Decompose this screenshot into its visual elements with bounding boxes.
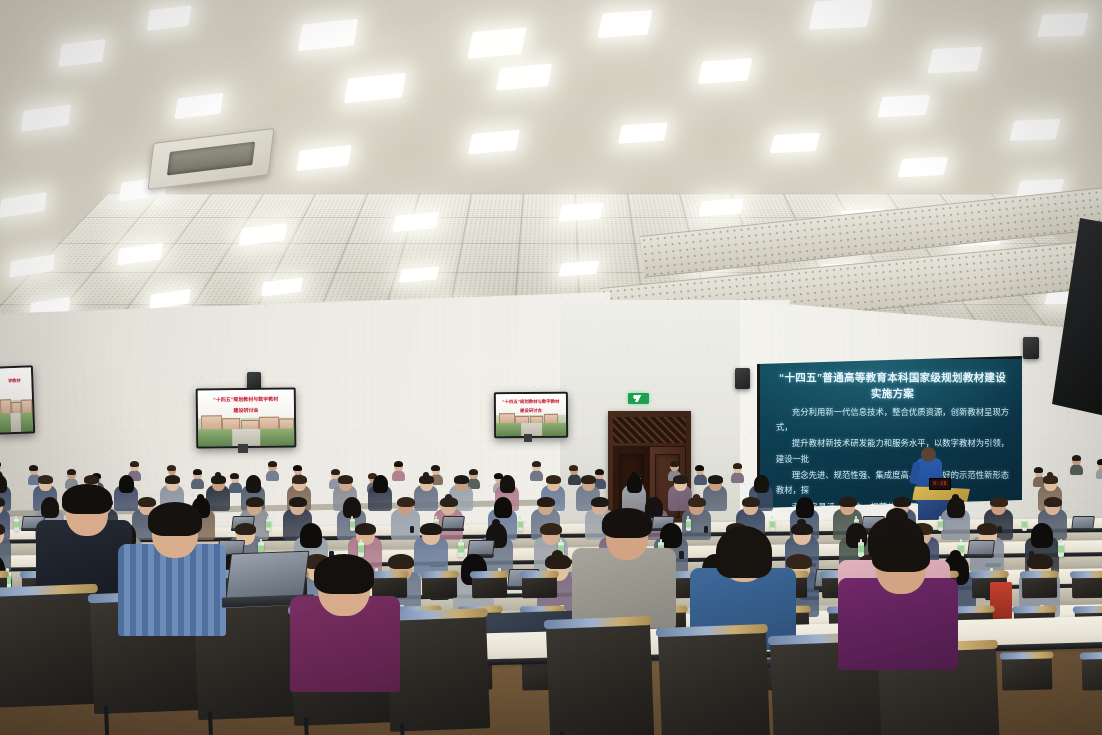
door-transom-grille [613, 417, 686, 443]
audience-torso [191, 478, 204, 489]
audience-hair [602, 508, 652, 538]
audience-hair [1031, 523, 1052, 548]
audience-hair [373, 475, 388, 493]
smartphone [998, 526, 1002, 533]
audience-hair-bun [631, 472, 637, 477]
audience-torso [694, 474, 707, 485]
audience-hair [230, 473, 239, 479]
wall-tv-center[interactable]: “十四五”规划教材与数字教材 建设研讨会 [494, 392, 568, 439]
audience-hair [708, 475, 723, 484]
audience-hair [673, 475, 688, 484]
recessed-led-panel [618, 122, 668, 144]
auditorium-chair [522, 572, 557, 597]
recessed-led-panel [898, 157, 948, 178]
audience-hair [165, 475, 180, 484]
chair-trim [1073, 605, 1102, 613]
auditorium-chair [0, 586, 100, 708]
audience-hair-bun [1047, 472, 1053, 477]
audience-hair-bun [423, 472, 429, 477]
audience-hair [331, 469, 340, 475]
water-bottle [686, 519, 691, 531]
audience-hair [591, 497, 609, 508]
laptop-base [967, 554, 994, 557]
auditorium-chair [422, 572, 457, 597]
auditorium-chair [1072, 572, 1102, 597]
ceiling-speaker-right [1023, 337, 1039, 359]
audience-hair [38, 475, 53, 484]
chair-trim [520, 570, 559, 578]
audience-hair [130, 461, 139, 467]
audience-hair [695, 465, 704, 471]
tv-center-mount [524, 434, 532, 442]
audience-torso [392, 470, 405, 481]
audience-hair [742, 497, 760, 508]
exit-sign [628, 393, 649, 404]
audience-hair [355, 523, 376, 536]
recessed-led-panel [496, 64, 552, 91]
slide-title-line2: 实施方案 [771, 386, 1015, 402]
audience-hair-bun [952, 494, 959, 500]
tv-center-banner-line1: “十四五”规划教材与数字教材 [499, 399, 563, 406]
audience-hair [581, 475, 596, 484]
chair-trim [0, 570, 9, 578]
water-bottle [266, 519, 271, 531]
audience-hair [733, 463, 742, 469]
audience-hair [300, 523, 321, 548]
audience-hair [193, 469, 202, 475]
audience-hair [293, 465, 302, 471]
audience-hair [786, 554, 812, 569]
audience-hair [716, 526, 772, 578]
audience-hair [494, 497, 512, 518]
recessed-led-panel [58, 39, 105, 67]
audience-hair [846, 523, 867, 548]
audience-hair [670, 461, 679, 467]
audience-torso [530, 470, 543, 481]
audience-hair [872, 534, 930, 572]
audience-hair [246, 497, 264, 508]
audience-hair [796, 497, 814, 518]
audience-hair-bun [797, 519, 806, 526]
audience-hair [246, 475, 261, 493]
audience-hair-bun [445, 494, 452, 500]
audience-hair [569, 465, 578, 471]
audience-hair-bun [693, 494, 700, 500]
recessed-led-panel [298, 19, 358, 51]
audience-torso [229, 482, 242, 493]
recessed-led-panel [878, 95, 931, 118]
audience-hair [431, 465, 440, 471]
water-bottle [14, 519, 19, 531]
wall-tv-left[interactable]: “十四五”规划教材与数字教材 建设研讨会 [196, 387, 297, 448]
recessed-led-panel [558, 202, 603, 221]
audience-hair [119, 475, 134, 493]
audience-hair [1044, 497, 1062, 508]
audience-hair [235, 523, 256, 536]
tv-center-screen: “十四五”规划教材与数字教材 建设研讨会 [496, 394, 566, 436]
recessed-led-panel [698, 58, 753, 84]
audience-hair [84, 475, 99, 484]
audience-hair [540, 523, 561, 536]
chair-trim [970, 570, 1009, 578]
audience-hair-bun [950, 550, 961, 559]
auditorium-chair [386, 610, 490, 732]
audience-hair [532, 461, 541, 467]
main-led-presentation-screen[interactable]: “十四五”普通高等教育本科国家级规划教材建设 实施方案 充分利用新一代信息技术，… [757, 356, 1028, 514]
ceiling-speaker-mid [735, 368, 750, 389]
audience-hair [754, 475, 769, 493]
water-bottle [770, 519, 775, 531]
audience-hair [338, 475, 353, 484]
audience-hair [148, 502, 202, 536]
chair-trim [420, 570, 459, 578]
water-bottle [518, 519, 523, 531]
tv-left-edge-screen: 学教材 [0, 367, 33, 432]
audience-hair [268, 461, 277, 467]
recessed-led-panel [0, 192, 47, 218]
audience-hair [454, 475, 469, 484]
tv-left-mount [238, 444, 248, 453]
recessed-led-panel [175, 93, 224, 119]
audience-hair [420, 523, 441, 536]
auditorium-chair [658, 626, 770, 735]
smartphone [410, 526, 414, 533]
recessed-led-panel [1009, 119, 1060, 141]
chair-trim [1070, 570, 1102, 578]
audience-hair-bun [215, 472, 221, 477]
audience-hair [1072, 455, 1081, 461]
wall-tv-left-edge[interactable]: 学教材 [0, 365, 35, 434]
chair-trim [470, 570, 509, 578]
audience-hair [388, 554, 414, 569]
audience-hair-bun [552, 550, 563, 559]
audience-hair-bun [886, 508, 908, 526]
audience-hair [29, 465, 38, 471]
audience-hair [394, 461, 403, 467]
water-bottle [358, 542, 364, 557]
audience-hair [1034, 467, 1043, 473]
chair-leg [560, 731, 566, 735]
slide-body-line-3: 理念先进、规范性强、集成度高、适用性好的示范性新形态教材，探 [776, 468, 1009, 499]
laptop-base [441, 528, 464, 531]
tv-left-screen: “十四五”规划教材与数字教材 建设研讨会 [198, 389, 295, 446]
recessed-led-panel [809, 0, 873, 30]
slide-title: “十四五”普通高等教育本科国家级规划教材建设 实施方案 [771, 370, 1015, 403]
audience-hair [343, 497, 361, 518]
audience-hair [67, 469, 76, 475]
auditorium-chair [546, 618, 654, 735]
recessed-led-panel [468, 27, 527, 58]
audience-hair [947, 497, 965, 518]
chair-trim [1020, 570, 1059, 578]
recessed-led-panel [597, 10, 652, 38]
audience-hair [1097, 459, 1102, 465]
water-bottle [350, 519, 355, 531]
slide-body-line-2: 提升教材新技术研发能力和服务水平，以数字教材为引领，建设一批 [776, 436, 1009, 467]
audience-hair [1027, 554, 1053, 569]
chair-trim [1000, 652, 1055, 660]
tv-left-edge-path [10, 413, 21, 433]
water-bottle [938, 519, 943, 531]
water-bottle [1022, 519, 1027, 531]
audience-torso [568, 474, 581, 485]
tv-left-banner-line1: “十四五”规划教材与数字教材 [202, 397, 290, 405]
auditorium-chair [1082, 654, 1102, 691]
audience-hair [138, 497, 156, 508]
recessed-led-panel [344, 73, 406, 104]
slide-body: 充分利用新一代信息技术，整合优质资源，创新教材呈现方式， 提升教材新技术研发能力… [776, 405, 1009, 514]
audience-torso [731, 472, 744, 483]
chair-trim [370, 570, 409, 578]
audience-hair [469, 469, 478, 475]
audience-hair [839, 497, 857, 508]
auditorium-chair [372, 572, 407, 597]
lectern-timer-display: 9:28 [929, 478, 951, 490]
recessed-led-panel [1037, 13, 1089, 37]
audience-hair [595, 469, 604, 475]
lecture-hall-photo: 学教材 “十四五”规划教材与数字教材 建设研讨会 “十四五”规划教材与数字教材 [0, 0, 1102, 735]
chair-trim [0, 584, 98, 598]
audience-torso [1070, 464, 1083, 475]
auditorium-chair [472, 572, 507, 597]
audience-hair [167, 465, 176, 471]
audience-hair [977, 523, 998, 536]
audience-hair [500, 475, 515, 493]
chair-trim [1080, 652, 1102, 660]
recessed-led-panel [698, 198, 743, 216]
audience-hair [627, 475, 642, 493]
laptop-base [1071, 528, 1094, 531]
tv-left-edge-banner: 学教材 [0, 378, 30, 385]
auditorium-chair [1002, 654, 1053, 691]
audience-hair [893, 497, 911, 508]
audience-hair [62, 484, 112, 514]
slide-body-line-1: 充分利用新一代信息技术，整合优质资源，创新教材呈现方式， [776, 405, 1009, 436]
audience-hair [397, 497, 415, 508]
recessed-led-panel [147, 5, 192, 31]
audience-hair [41, 497, 59, 518]
audience-hair [990, 497, 1008, 508]
audience-torso [1096, 468, 1102, 479]
chair-trim [1011, 605, 1057, 613]
recessed-led-panel [296, 145, 351, 171]
audience-hair [289, 497, 307, 508]
audience-hair [292, 475, 307, 484]
slide-title-line1: “十四五”普通高等教育本科国家级规划教材建设 [771, 370, 1015, 386]
audience-torso [266, 470, 279, 481]
audience-hair [546, 475, 561, 484]
presenter-head [921, 447, 936, 462]
smartphone [704, 526, 708, 533]
recessed-led-panel [770, 133, 820, 154]
recessed-led-panel [927, 47, 983, 74]
audience-hair [537, 497, 555, 508]
water-bottle [1058, 542, 1064, 557]
recessed-led-panel [468, 130, 520, 155]
smartphone [679, 551, 684, 559]
water-bottle [458, 542, 464, 557]
ceiling-cassette-air-conditioner [148, 128, 275, 190]
auditorium-chair [1022, 572, 1057, 597]
audience-hair [314, 554, 374, 594]
running-man-icon [632, 395, 645, 401]
recessed-led-panel [21, 104, 71, 131]
audience-hair-bun [197, 494, 204, 500]
